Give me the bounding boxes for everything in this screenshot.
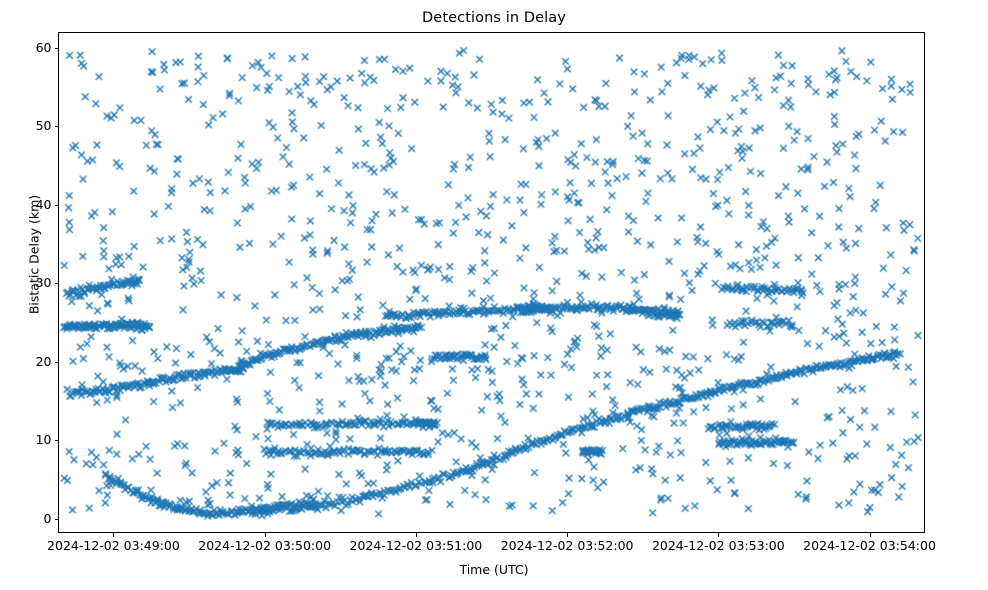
y-tick-mark: [55, 205, 59, 206]
x-tick-label: 2024-12-02 03:53:00: [652, 538, 785, 554]
y-tick-mark: [55, 48, 59, 49]
x-tick-mark: [416, 533, 417, 537]
x-tick-mark: [718, 533, 719, 537]
x-tick-label: 2024-12-02 03:52:00: [501, 538, 634, 554]
y-axis-label: Bistatic Delay (km): [27, 25, 42, 485]
page-title: Detections in Delay: [0, 10, 988, 26]
x-tick-label: 2024-12-02 03:54:00: [803, 538, 936, 554]
y-tick-mark: [55, 126, 59, 127]
y-tick-mark: [55, 283, 59, 284]
y-tick-mark: [55, 362, 59, 363]
x-tick-mark: [113, 533, 114, 537]
x-tick-mark: [870, 533, 871, 537]
x-tick-mark: [567, 533, 568, 537]
plot-area: [58, 32, 925, 533]
y-tick-label: 0: [44, 511, 52, 527]
x-axis-label: Time (UTC): [0, 562, 988, 577]
x-tick-label: 2024-12-02 03:49:00: [47, 538, 180, 554]
y-tick-mark: [55, 440, 59, 441]
x-tick-label: 2024-12-02 03:50:00: [198, 538, 331, 554]
y-tick-mark: [55, 519, 59, 520]
y-tick-0: 0: [0, 519, 58, 520]
scatter-canvas: [59, 33, 924, 532]
matplotlib-figure: Detections in Delay 0102030405060 2024-1…: [0, 0, 988, 590]
x-tick-mark: [265, 533, 266, 537]
x-tick-label: 2024-12-02 03:51:00: [349, 538, 482, 554]
